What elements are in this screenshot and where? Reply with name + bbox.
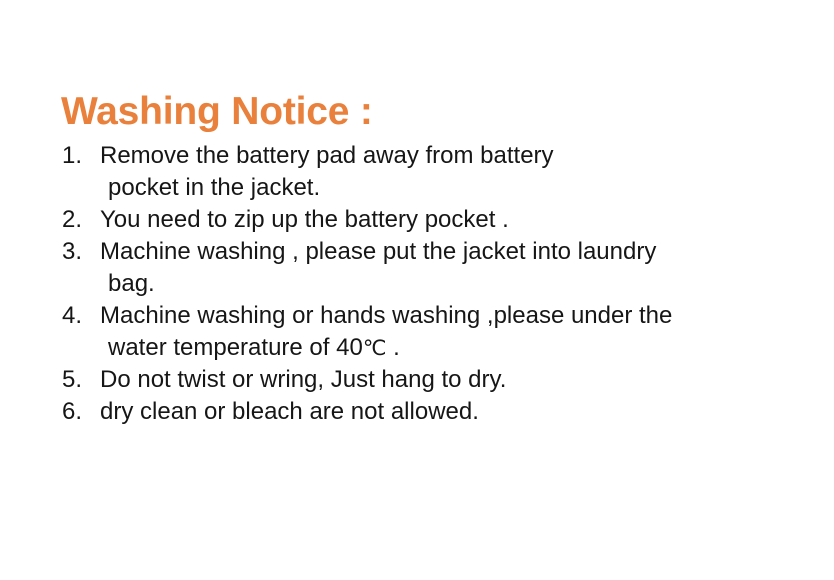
list-item-text: Machine washing , please put the jacket … <box>100 236 818 300</box>
washing-notice-card: Washing Notice : 1. Remove the battery p… <box>0 0 834 580</box>
list-item-line-continued: pocket in the jacket. <box>100 172 818 204</box>
list-item: 6. dry clean or bleach are not allowed. <box>58 396 818 428</box>
list-item-line: Do not twist or wring, Just hang to dry. <box>100 366 506 393</box>
list-item: 4. Machine washing or hands washing ,ple… <box>58 300 818 364</box>
list-item-text: dry clean or bleach are not allowed. <box>100 396 818 428</box>
list-item-number: 4. <box>62 300 92 332</box>
list-item-line: Machine washing or hands washing ,please… <box>100 302 672 329</box>
list-item-number: 2. <box>62 204 92 236</box>
washing-instruction-list: 1. Remove the battery pad away from batt… <box>58 140 818 428</box>
list-item-text: Do not twist or wring, Just hang to dry. <box>100 364 818 396</box>
list-item: 5. Do not twist or wring, Just hang to d… <box>58 364 818 396</box>
list-item: 2. You need to zip up the battery pocket… <box>58 204 818 236</box>
list-item-line-continued: water temperature of 40℃ . <box>100 332 818 364</box>
list-item-line: Remove the battery pad away from battery <box>100 142 554 169</box>
page-title: Washing Notice : <box>61 90 373 134</box>
list-item-number: 3. <box>62 236 92 268</box>
degree-celsius-glyph: ℃ <box>363 336 387 360</box>
list-item: 1. Remove the battery pad away from batt… <box>58 140 818 204</box>
list-item-line: dry clean or bleach are not allowed. <box>100 398 479 425</box>
list-item-line: You need to zip up the battery pocket . <box>100 206 509 233</box>
list-item-line-continued: bag. <box>100 268 818 300</box>
list-item-text: Machine washing or hands washing ,please… <box>100 300 818 364</box>
list-item-line: Machine washing , please put the jacket … <box>100 238 656 265</box>
list-item-number: 5. <box>62 364 92 396</box>
list-item-number: 1. <box>62 140 92 172</box>
list-item-number: 6. <box>62 396 92 428</box>
list-item: 3. Machine washing , please put the jack… <box>58 236 818 300</box>
list-item-text: You need to zip up the battery pocket . <box>100 204 818 236</box>
list-item-text: Remove the battery pad away from battery… <box>100 140 818 204</box>
